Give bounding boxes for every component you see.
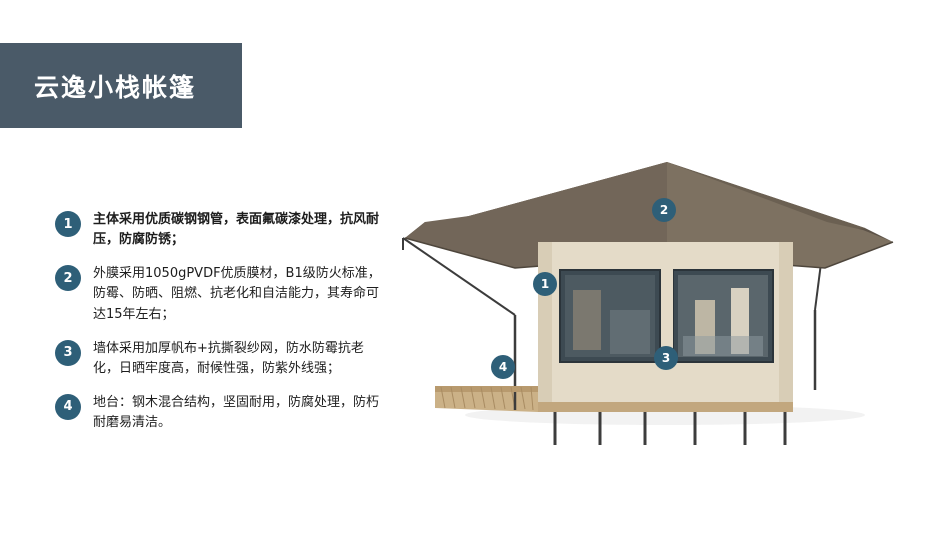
feature-badge-1: 1 xyxy=(55,211,81,237)
page-title: 云逸小栈帐篷 xyxy=(34,68,196,104)
marker-2: 2 xyxy=(652,198,676,222)
feature-text-1: 主体采用优质碳钢钢管，表面氟碳漆处理，抗风耐压，防腐防锈； xyxy=(93,210,385,250)
marker-4: 4 xyxy=(491,355,515,379)
title-banner: 云逸小栈帐篷 xyxy=(0,43,242,128)
feature-text-2: 外膜采用1050gPVDF优质膜材，B1级防火标准，防霉、防晒、阻燃、抗老化和自… xyxy=(93,264,385,324)
list-item: 2 外膜采用1050gPVDF优质膜材，B1级防火标准，防霉、防晒、阻燃、抗老化… xyxy=(55,264,385,324)
feature-badge-3: 3 xyxy=(55,340,81,366)
list-item: 4 地台：钢木混合结构，坚固耐用，防腐处理，防朽耐磨易清洁。 xyxy=(55,393,385,433)
feature-badge-4: 4 xyxy=(55,394,81,420)
feature-text-3: 墙体采用加厚帆布+抗撕裂纱网，防水防霉抗老化，日晒牢度高，耐候性强，防紫外线强； xyxy=(93,339,385,379)
feature-list: 1 主体采用优质碳钢钢管，表面氟碳漆处理，抗风耐压，防腐防锈； 2 外膜采用10… xyxy=(55,210,385,447)
feature-badge-2: 2 xyxy=(55,265,81,291)
list-item: 3 墙体采用加厚帆布+抗撕裂纱网，防水防霉抗老化，日晒牢度高，耐候性强，防紫外线… xyxy=(55,339,385,379)
list-item: 1 主体采用优质碳钢钢管，表面氟碳漆处理，抗风耐压，防腐防锈； xyxy=(55,210,385,250)
feature-text-4: 地台：钢木混合结构，坚固耐用，防腐处理，防朽耐磨易清洁。 xyxy=(93,393,385,433)
marker-1: 1 xyxy=(533,272,557,296)
slide-page: 云逸小栈帐篷 1 主体采用优质碳钢钢管，表面氟碳漆处理，抗风耐压，防腐防锈； 2… xyxy=(0,0,950,534)
tent-illustration: 1 2 3 4 xyxy=(395,160,940,450)
marker-3: 3 xyxy=(654,346,678,370)
